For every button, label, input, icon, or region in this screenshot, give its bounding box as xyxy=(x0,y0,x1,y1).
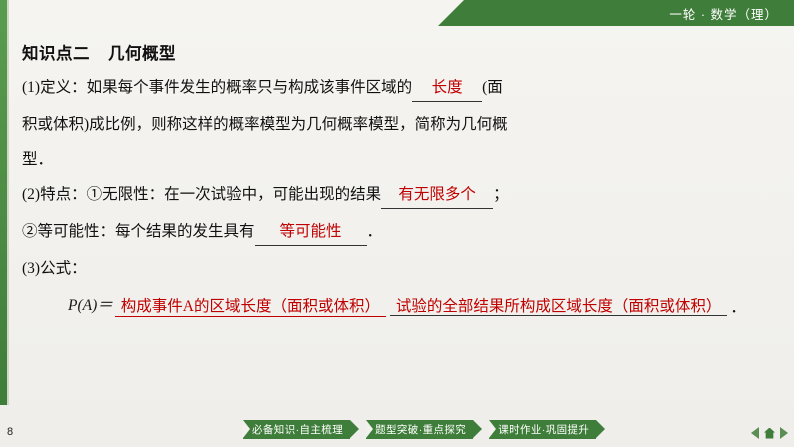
knowledge-point-title: 几何概型 xyxy=(108,44,176,63)
header-title: 一轮 · 数学（理） xyxy=(669,4,778,23)
left-accent-bar xyxy=(0,0,7,405)
footer-chip-basics[interactable]: 必备知识·自主梳理 xyxy=(243,420,350,439)
definition-paragraph: (1)定义：如果每个事件发生的概率只与构成该事件区域的长度(面 xyxy=(22,76,776,102)
formula-numerator: 构成事件A的区域长度（面积或体积） xyxy=(115,298,386,317)
feature-answer-blank-1: 有无限多个 xyxy=(381,183,493,209)
formula-label: (3)公式： xyxy=(22,257,776,281)
probability-formula: P(A)＝ 构成事件A的区域长度（面积或体积） 试验的全部结果所构成区域长度（面… xyxy=(68,295,776,318)
header-bar: 一轮 · 数学（理） xyxy=(464,0,794,26)
slide: 一轮 · 数学（理） 知识点二几何概型 (1)定义：如果每个事件发生的概率只与构… xyxy=(0,0,794,447)
feature-text-part1: (2)特点：①无限性：在一次试验中，可能出现的结果 xyxy=(22,186,381,203)
triangle-left-icon[interactable] xyxy=(751,427,759,439)
knowledge-point-heading: 知识点二几何概型 xyxy=(22,46,776,63)
footer-chip-problem-types[interactable]: 题型突破·重点探究 xyxy=(366,420,473,439)
feature-answer-blank-2: 等可能性 xyxy=(255,220,367,246)
navigation-controls xyxy=(751,427,788,439)
formula-fraction: 构成事件A的区域长度（面积或体积） 试验的全部结果所构成区域长度（面积或体积） xyxy=(115,295,728,318)
header-corner-shape xyxy=(438,0,464,26)
definition-answer-blank: 长度 xyxy=(412,76,482,102)
home-icon[interactable] xyxy=(764,428,775,439)
triangle-right-icon[interactable] xyxy=(780,427,788,439)
feature-paragraph-2: ②等可能性：每个结果的发生具有等可能性． xyxy=(22,220,776,246)
definition-paragraph-line2: 积或体积)成比例，则称这样的概率模型为几何概率模型，简称为几何概 xyxy=(22,113,776,137)
knowledge-point-label: 知识点二 xyxy=(22,44,90,63)
slide-content: 知识点二几何概型 (1)定义：如果每个事件发生的概率只与构成该事件区域的长度(面… xyxy=(22,46,776,318)
feature2-text-part2: ． xyxy=(367,223,383,240)
definition-text-part2: (面 xyxy=(482,79,503,96)
definition-paragraph-line3: 型． xyxy=(22,148,776,172)
left-accent-bar-secondary xyxy=(7,0,9,405)
formula-denominator: 试验的全部结果所构成区域长度（面积或体积） xyxy=(390,296,728,316)
feature2-text-part1: ②等可能性：每个结果的发生具有 xyxy=(22,223,255,240)
page-number: 8 xyxy=(7,426,13,438)
feature-text-part2: ； xyxy=(493,186,509,203)
formula-left-hand-side: P(A)＝ xyxy=(68,298,115,314)
feature-paragraph-1: (2)特点：①无限性：在一次试验中，可能出现的结果有无限多个； xyxy=(22,183,776,209)
formula-period: ． xyxy=(727,300,746,318)
footer-bar: 8 必备知识·自主梳理 题型突破·重点探究 课时作业·巩固提升 xyxy=(0,405,794,447)
footer-chip-homework[interactable]: 课时作业·巩固提升 xyxy=(489,420,596,439)
definition-text-part1: (1)定义：如果每个事件发生的概率只与构成该事件区域的 xyxy=(22,79,412,96)
footer-chip-group: 必备知识·自主梳理 题型突破·重点探究 课时作业·巩固提升 xyxy=(243,420,612,439)
